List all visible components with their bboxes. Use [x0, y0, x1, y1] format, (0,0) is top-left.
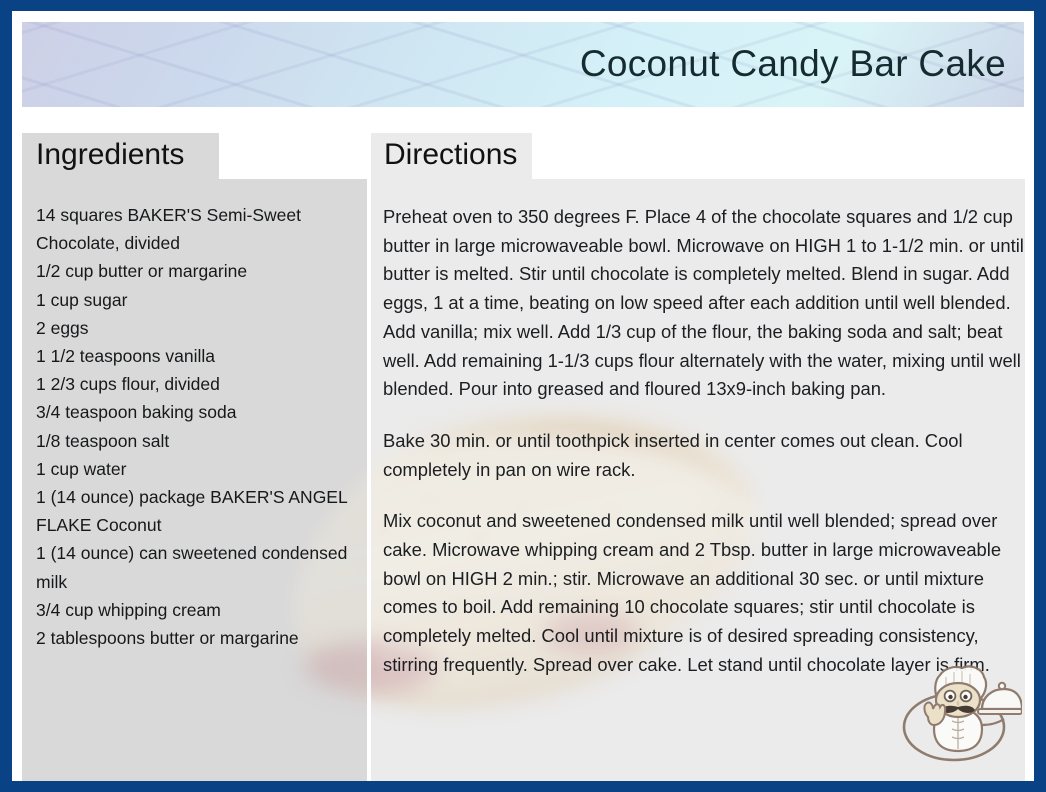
chef-mascot-logo: [894, 655, 1022, 773]
column-divider: [367, 179, 371, 781]
directions-paragraph: Preheat oven to 350 degrees F. Place 4 o…: [383, 203, 1027, 404]
list-item: 1 (14 ounce) can sweetened condensed mil…: [36, 539, 366, 595]
recipe-card: Coconut Candy Bar Cake: [0, 0, 1046, 792]
page-title: Coconut Candy Bar Cake: [580, 43, 1006, 85]
list-item: 3/4 teaspoon baking soda: [36, 398, 366, 426]
ingredients-heading: Ingredients: [36, 138, 184, 172]
list-item: 14 squares BAKER'S Semi-Sweet Chocolate,…: [36, 201, 366, 257]
list-item: 1 cup sugar: [36, 286, 366, 314]
title-banner: Coconut Candy Bar Cake: [22, 22, 1024, 107]
list-item: 1 2/3 cups flour, divided: [36, 370, 366, 398]
list-item: 3/4 cup whipping cream: [36, 596, 366, 624]
list-item: 1/2 cup butter or margarine: [36, 257, 366, 285]
directions-paragraph: Mix coconut and sweetened condensed milk…: [383, 507, 1027, 679]
list-item: 1 1/2 teaspoons vanilla: [36, 342, 366, 370]
directions-heading: Directions: [384, 138, 517, 172]
recipe-page: Coconut Candy Bar Cake: [12, 11, 1034, 781]
directions-paragraph: Bake 30 min. or until toothpick inserted…: [383, 427, 1027, 484]
directions-text: Preheat oven to 350 degrees F. Place 4 o…: [383, 203, 1027, 680]
list-item: 2 eggs: [36, 314, 366, 342]
list-item: 2 tablespoons butter or margarine: [36, 624, 366, 652]
list-item: 1/8 teaspoon salt: [36, 427, 366, 455]
ingredients-list: 14 squares BAKER'S Semi-Sweet Chocolate,…: [36, 201, 366, 652]
list-item: 1 cup water: [36, 455, 366, 483]
list-item: 1 (14 ounce) package BAKER'S ANGEL FLAKE…: [36, 483, 366, 539]
